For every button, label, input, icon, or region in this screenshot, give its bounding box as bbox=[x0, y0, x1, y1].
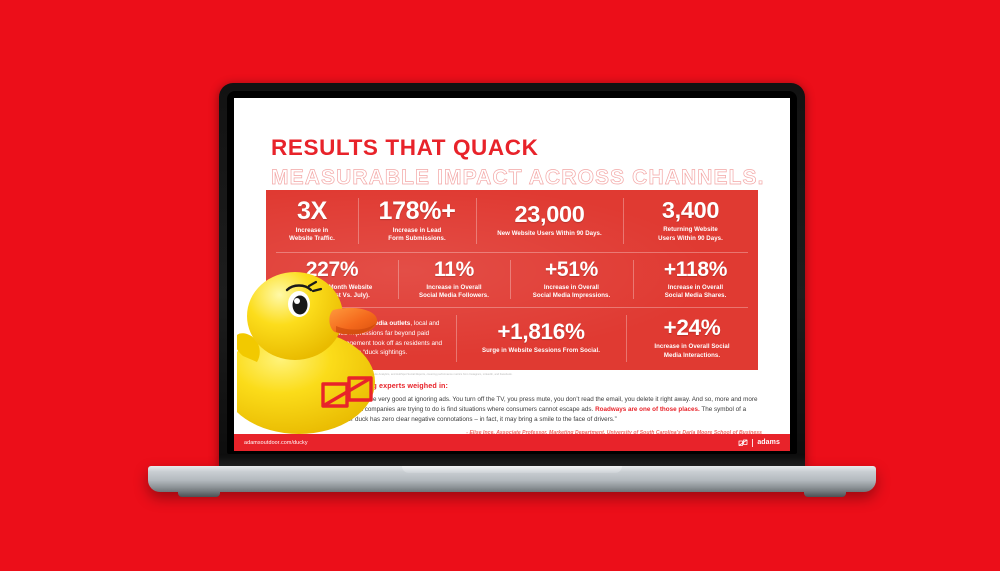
footer-url[interactable]: adamsoutdoor.com/ducky bbox=[244, 440, 308, 446]
stat-label: New Website Users Within 90 Days. bbox=[497, 230, 601, 238]
stat-card: 11% Increase in OverallSocial Media Foll… bbox=[398, 252, 510, 307]
stat-label: Increase inWebsite Traffic. bbox=[289, 227, 335, 243]
stat-card: 178%+ Increase in LeadForm Submissions. bbox=[358, 190, 476, 252]
stat-label: Increase in Overall SocialMedia Interact… bbox=[654, 343, 729, 359]
stat-value: +24% bbox=[664, 317, 721, 340]
stat-label: Increase in OverallSocial Media Impressi… bbox=[533, 284, 610, 300]
logo-divider bbox=[752, 439, 753, 447]
laptop-foot-left bbox=[178, 490, 220, 497]
laptop-bezel: RESULTS THAT QUACK MEASURABLE IMPACT ACR… bbox=[227, 91, 797, 454]
page-subtitle: MEASURABLE IMPACT ACROSS CHANNELS. bbox=[271, 167, 765, 188]
stat-label: Increase in OverallSocial Media Follower… bbox=[419, 284, 489, 300]
stat-card: 3,400 Returning WebsiteUsers Within 90 D… bbox=[623, 190, 758, 252]
stat-value: +1,816% bbox=[497, 321, 584, 344]
stat-card: 3X Increase inWebsite Traffic. bbox=[266, 190, 358, 252]
stat-card: 23,000 New Website Users Within 90 Days. bbox=[476, 190, 623, 252]
adams-logo-word: adams bbox=[757, 439, 780, 446]
quote-highlight: Roadways are one of those places. bbox=[595, 406, 700, 413]
duck-eye-glint bbox=[294, 298, 300, 304]
stat-value: +118% bbox=[664, 259, 727, 280]
presentation-slide: RESULTS THAT QUACK MEASURABLE IMPACT ACR… bbox=[234, 98, 790, 451]
laptop-mockup: RESULTS THAT QUACK MEASURABLE IMPACT ACR… bbox=[0, 0, 1000, 571]
laptop-base bbox=[148, 466, 876, 492]
stat-label: Returning WebsiteUsers Within 90 Days. bbox=[658, 226, 723, 242]
stat-card: +51% Increase in OverallSocial Media Imp… bbox=[510, 252, 633, 307]
adams-logo-mark-icon bbox=[738, 439, 748, 447]
laptop-lid: RESULTS THAT QUACK MEASURABLE IMPACT ACR… bbox=[219, 83, 805, 468]
stats-row-1: 3X Increase inWebsite Traffic. 178%+ Inc… bbox=[266, 190, 758, 252]
stat-value: 178%+ bbox=[378, 199, 455, 224]
slide-footer: adamsoutdoor.com/ducky adams bbox=[234, 434, 790, 451]
stat-value: 3,400 bbox=[662, 199, 719, 223]
duck-eye-pupil bbox=[293, 296, 308, 315]
stat-label: Increase in OverallSocial Media Shares. bbox=[665, 284, 727, 300]
rubber-duck-illustration bbox=[237, 260, 397, 434]
adams-logo: adams bbox=[738, 439, 780, 447]
page-title: RESULTS THAT QUACK bbox=[271, 137, 765, 160]
stat-card: +24% Increase in Overall SocialMedia Int… bbox=[626, 307, 758, 370]
stat-value: 11% bbox=[434, 259, 474, 280]
stat-card: +1,816% Surge in Website Sessions From S… bbox=[456, 307, 626, 370]
laptop-screen: RESULTS THAT QUACK MEASURABLE IMPACT ACR… bbox=[234, 98, 790, 451]
stat-card: +118% Increase in OverallSocial Media Sh… bbox=[633, 252, 758, 307]
stat-label: Increase in LeadForm Submissions. bbox=[388, 227, 445, 243]
stat-value: 3X bbox=[297, 199, 327, 224]
slide-headings: RESULTS THAT QUACK MEASURABLE IMPACT ACR… bbox=[271, 137, 765, 188]
stat-value: 23,000 bbox=[514, 203, 584, 227]
laptop-foot-right bbox=[804, 490, 846, 497]
stat-label: Surge in Website Sessions From Social. bbox=[482, 347, 600, 355]
stat-value: +51% bbox=[545, 259, 598, 280]
